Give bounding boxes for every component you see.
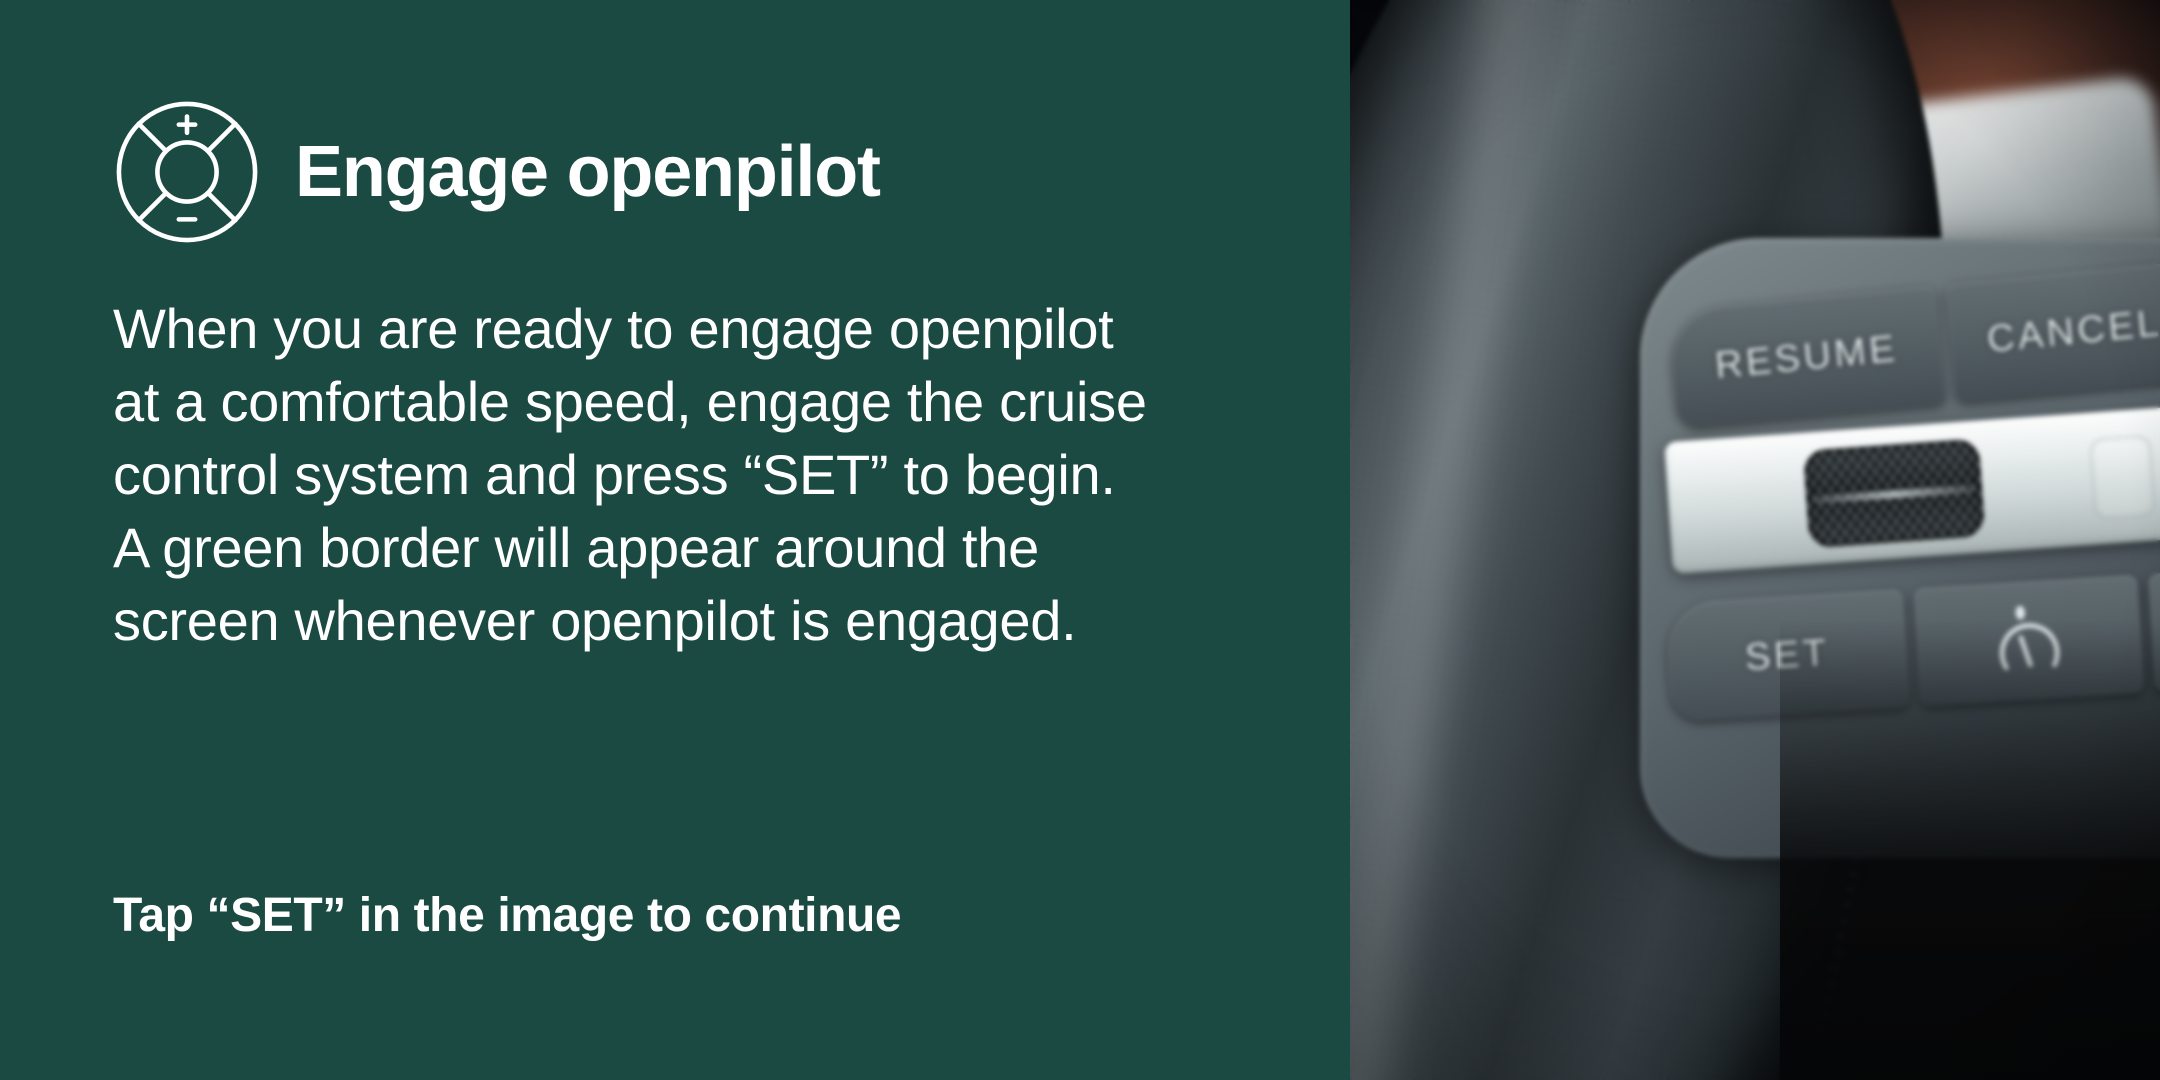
cruise-control-icon: [113, 98, 261, 246]
gauge-button[interactable]: [1913, 575, 2144, 706]
steering-wheel-photo[interactable]: RESUME CANCEL SET: [1350, 0, 2160, 1080]
continue-prompt: Tap “SET” in the image to continue: [113, 888, 901, 943]
panel-header: Engage openpilot: [113, 98, 880, 246]
cancel-button[interactable]: CANCEL: [1945, 261, 2160, 402]
page-title: Engage openpilot: [295, 136, 880, 208]
set-button[interactable]: SET: [1665, 589, 1910, 721]
adjacent-button[interactable]: [2148, 568, 2160, 692]
speed-gauge-icon: [1983, 595, 2074, 686]
body-line: control system and press “SET” to begin.: [113, 438, 1293, 511]
body-line: screen whenever openpilot is engaged.: [113, 584, 1293, 657]
body-line: A green border will appear around the: [113, 511, 1293, 584]
resume-button-label: RESUME: [1713, 327, 1900, 387]
distance-rocker-switch[interactable]: [1803, 438, 1985, 548]
set-button-label: SET: [1744, 631, 1831, 679]
body-line: at a comfortable speed, engage the cruis…: [113, 365, 1293, 438]
onboarding-screen: Engage openpilot When you are ready to e…: [0, 0, 2160, 1080]
instruction-body: When you are ready to engage openpilot a…: [113, 292, 1293, 657]
instruction-panel: Engage openpilot When you are ready to e…: [0, 0, 1350, 1080]
chrome-nub: [2089, 434, 2157, 520]
body-line: When you are ready to engage openpilot: [113, 292, 1293, 365]
cancel-button-label: CANCEL: [1985, 302, 2160, 362]
